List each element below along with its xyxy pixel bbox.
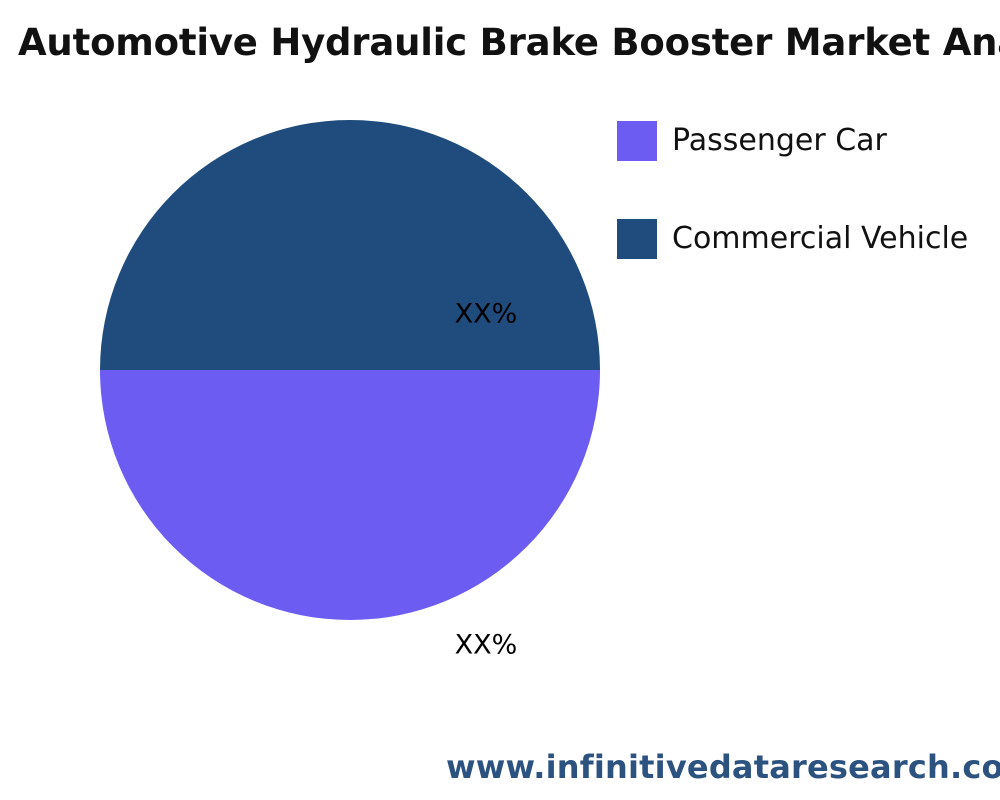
legend-swatch-passenger-car <box>617 121 657 161</box>
chart-title: Automotive Hydraulic Brake Booster Marke… <box>18 22 1000 65</box>
footer-website-url[interactable]: www.infinitivedataresearch.com <box>446 748 1000 786</box>
pie-slice-passenger-car[interactable] <box>100 370 600 620</box>
pie-chart-plot-area: XX% XX% <box>100 120 600 620</box>
legend-swatch-commercial-vehicle <box>617 219 657 259</box>
legend-item-passenger-car[interactable]: Passenger Car <box>617 121 887 161</box>
pie-slice-commercial-vehicle[interactable] <box>100 120 600 370</box>
pie-svg <box>100 120 600 620</box>
pie-slice-label-commercial-vehicle: XX% <box>455 299 518 330</box>
legend-label-commercial-vehicle: Commercial Vehicle <box>672 224 968 254</box>
legend-label-passenger-car: Passenger Car <box>672 126 887 156</box>
legend-item-commercial-vehicle[interactable]: Commercial Vehicle <box>617 219 968 259</box>
pie-chart-figure: Automotive Hydraulic Brake Booster Marke… <box>0 0 1000 800</box>
pie-slice-label-passenger-car: XX% <box>455 630 518 661</box>
